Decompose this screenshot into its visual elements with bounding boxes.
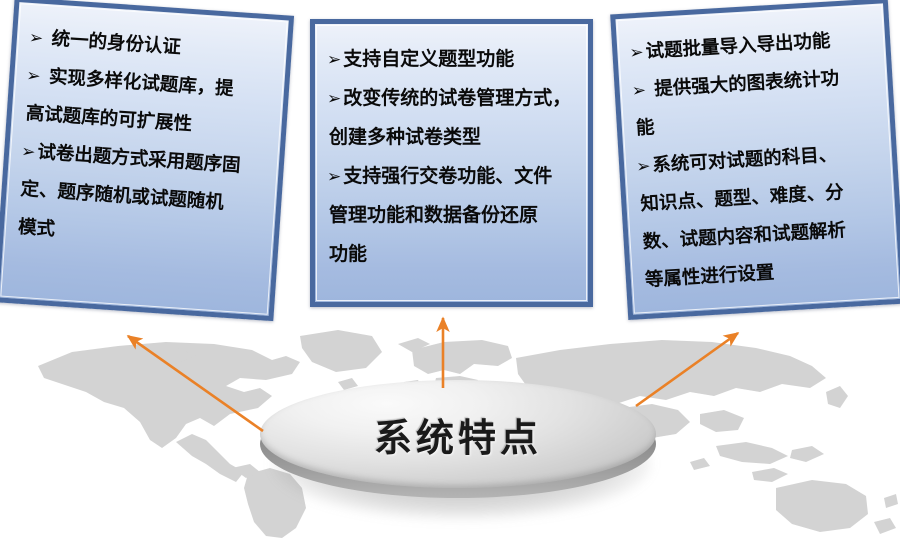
bullet-icon: ➢ <box>629 42 646 63</box>
feature-line: 创建多种试卷类型 <box>327 118 576 157</box>
feature-line-text: 支持强行交卷功能、文件 <box>343 165 552 187</box>
bullet-icon: ➢ <box>327 167 343 187</box>
bullet-icon: ➢ <box>327 89 343 109</box>
feature-line-text: 高试题库的可扩展性 <box>25 103 193 135</box>
feature-line-text: 创建多种试卷类型 <box>329 126 481 148</box>
bullet-icon: ➢ <box>327 50 343 70</box>
feature-line: 功能 <box>327 235 576 274</box>
feature-line-text: 试题批量导入导出功能 <box>645 31 831 63</box>
feature-line-text: 统一的身份认证 <box>45 28 182 58</box>
feature-line-text: 模式 <box>17 217 55 240</box>
feature-box-question[interactable]: ➢试题批量导入导出功能 ➢ 提供强大的图表统计功 能 ➢系统可对试题的科目、 知… <box>610 0 900 320</box>
feature-line-text: 管理功能和数据备份还原 <box>329 204 538 226</box>
center-node[interactable]: 系统特点 <box>258 378 658 523</box>
diagram-canvas: 系统特点 ➢ 统一的身份认证 ➢ 实现多样化试题库，提 高试题库的可扩展性 ➢试… <box>0 0 900 541</box>
feature-line-text: 改变传统的试卷管理方式， <box>343 87 571 109</box>
feature-line-text: 能 <box>635 117 655 139</box>
feature-line-text: 功能 <box>329 243 367 265</box>
feature-line-text: 等属性进行设置 <box>644 262 775 291</box>
feature-box-paper[interactable]: ➢支持自定义题型功能 ➢改变传统的试卷管理方式， 创建多种试卷类型 ➢支持强行交… <box>310 19 593 307</box>
feature-line-text: 定、题序随机或试题随机 <box>20 179 224 214</box>
bullet-icon: ➢ <box>636 156 653 177</box>
feature-box-question-lines: ➢试题批量导入导出功能 ➢ 提供强大的图表统计功 能 ➢系统可对试题的科目、 知… <box>628 20 887 300</box>
center-node-label: 系统特点 <box>258 378 658 490</box>
feature-line-text: 提供强大的图表统计功 <box>647 68 839 100</box>
feature-line: ➢支持自定义题型功能 <box>327 40 576 79</box>
feature-box-paper-lines: ➢支持自定义题型功能 ➢改变传统的试卷管理方式， 创建多种试卷类型 ➢支持强行交… <box>327 40 576 274</box>
feature-line-text: 系统可对试题的科目、 <box>652 144 838 176</box>
feature-line-text: 数、试题内容和试题解析 <box>642 220 846 253</box>
feature-line: ➢改变传统的试卷管理方式， <box>327 79 576 118</box>
feature-box-identity-lines: ➢ 统一的身份认证 ➢ 实现多样化试题库，提 高试题库的可扩展性 ➢试卷出题方式… <box>15 19 276 263</box>
feature-line: ➢支持强行交卷功能、文件 <box>327 157 576 196</box>
bullet-icon: ➢ <box>26 66 44 87</box>
feature-line-text: 实现多样化试题库，提 <box>42 66 234 100</box>
feature-line-text: 知识点、题型、难度、分 <box>640 182 844 215</box>
feature-box-identity[interactable]: ➢ 统一的身份认证 ➢ 实现多样化试题库，提 高试题库的可扩展性 ➢试卷出题方式… <box>0 0 294 321</box>
feature-line: 管理功能和数据备份还原 <box>327 196 576 235</box>
feature-line-text: 试卷出题方式采用题序固 <box>37 142 241 177</box>
bullet-icon: ➢ <box>28 28 46 49</box>
feature-line-text: 支持自定义题型功能 <box>343 48 514 70</box>
bullet-icon: ➢ <box>21 142 39 163</box>
bullet-icon: ➢ <box>631 80 648 101</box>
